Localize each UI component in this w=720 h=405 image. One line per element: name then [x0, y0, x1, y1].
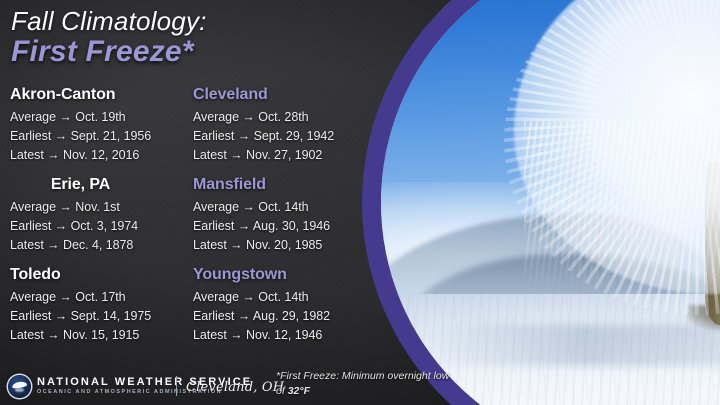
station-average: Average → Oct. 17th — [10, 288, 185, 307]
station-average: Average → Oct. 19th — [10, 108, 185, 127]
station-earliest: Earliest → Aug. 30, 1946 — [193, 217, 370, 236]
station-cell-akron-canton: Akron-Canton Average → Oct. 19th Earlies… — [0, 86, 185, 176]
station-name: Toledo — [10, 266, 185, 284]
station-average: Average → Oct. 14th — [193, 288, 370, 307]
station-latest: Latest → Nov. 12, 2016 — [10, 146, 185, 165]
station-average: Average → Nov. 1st — [10, 198, 185, 217]
station-latest: Latest → Dec. 4, 1878 — [10, 236, 185, 255]
station-average: Average → Oct. 28th — [193, 108, 370, 127]
noaa-seagull-icon — [8, 375, 31, 398]
weather-graphic: Fall Climatology: First Freeze* Akron-Ca… — [0, 0, 720, 405]
station-earliest: Earliest → Aug. 29, 1982 — [193, 307, 370, 326]
station-earliest: Earliest → Sept. 21, 1956 — [10, 127, 185, 146]
station-name: Mansfield — [193, 176, 370, 194]
station-latest: Latest → Nov. 20, 1985 — [193, 236, 370, 255]
station-latest: Latest → Nov. 15, 1915 — [10, 326, 185, 345]
footnote-temperature: 32°F — [288, 385, 310, 397]
station-cell-youngstown: Youngstown Average → Oct. 14th Earliest … — [185, 266, 370, 356]
frost-drape — [524, 121, 720, 295]
title-line-2: First Freeze* — [11, 36, 207, 68]
station-row: Toledo Average → Oct. 17th Earliest → Se… — [0, 266, 380, 356]
footer: NATIONAL WEATHER SERVICE OCEANIC AND ATM… — [0, 369, 720, 405]
station-row: Akron-Canton Average → Oct. 19th Earlies… — [0, 86, 380, 176]
station-earliest: Earliest → Oct. 3, 1974 — [10, 217, 185, 236]
station-average: Average → Oct. 14th — [193, 198, 370, 217]
winter-tree-photo — [381, 0, 720, 405]
station-row: Erie, PA Average → Nov. 1st Earliest → O… — [0, 176, 380, 266]
office-name: Cleveland, OH — [186, 380, 284, 395]
station-cell-toledo: Toledo Average → Oct. 17th Earliest → Se… — [0, 266, 185, 356]
station-latest: Latest → Nov. 12, 1946 — [193, 326, 370, 345]
station-name: Cleveland — [193, 86, 370, 104]
footnote: *First Freeze: Minimum overnight low of … — [276, 369, 456, 398]
station-cell-erie-pa: Erie, PA Average → Nov. 1st Earliest → O… — [0, 176, 185, 266]
station-cell-cleveland: Cleveland Average → Oct. 28th Earliest →… — [185, 86, 370, 176]
footer-divider — [176, 376, 177, 396]
station-name: Erie, PA — [10, 176, 185, 194]
station-earliest: Earliest → Sept. 14, 1975 — [10, 307, 185, 326]
station-name: Youngstown — [193, 266, 370, 284]
station-grid: Akron-Canton Average → Oct. 19th Earlies… — [0, 86, 380, 356]
station-latest: Latest → Nov. 27, 1902 — [193, 146, 370, 165]
page-title: Fall Climatology: First Freeze* — [11, 8, 207, 69]
station-name: Akron-Canton — [10, 86, 185, 104]
snow-shadow — [432, 325, 720, 366]
station-cell-mansfield: Mansfield Average → Oct. 14th Earliest →… — [185, 176, 370, 266]
title-line-1: Fall Climatology: — [11, 8, 207, 35]
station-earliest: Earliest → Sept. 29, 1942 — [193, 127, 370, 146]
